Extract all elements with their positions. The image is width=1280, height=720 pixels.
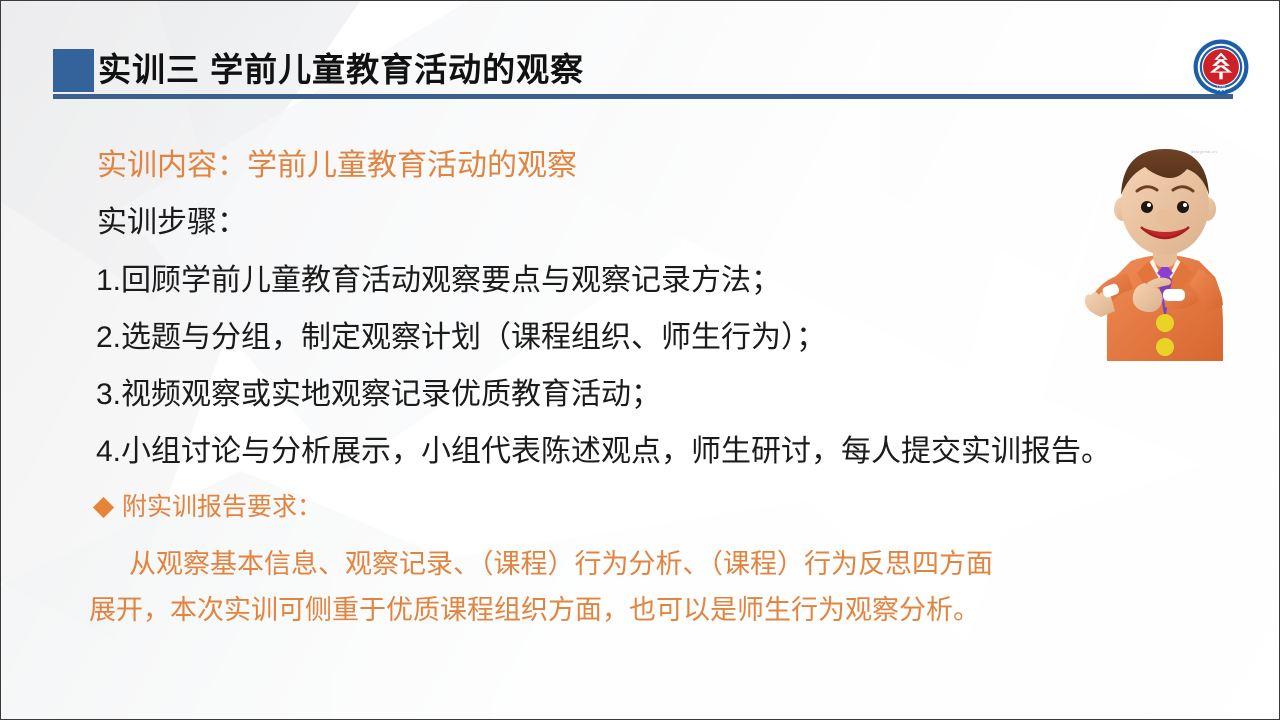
diamond-bullet-icon xyxy=(93,497,114,518)
report-requirement-heading: 附实训报告要求： xyxy=(96,493,322,522)
step-item-3: 3.视频观察或实地观察记录优质教育活动； xyxy=(96,378,661,413)
training-content-line: 实训内容：学前儿童教育活动的观察 xyxy=(97,149,577,184)
step-item-2: 2.选题与分组，制定观察计划（课程组织、师生行为）； xyxy=(96,321,826,356)
report-requirement-line-1: 从观察基本信息、观察记录、（课程）行为分析、（课程）行为反思四方面 xyxy=(129,549,993,580)
report-requirement-line-2: 展开，本次实训可侧重于优质课程组织方面，也可以是师生行为观察分析。 xyxy=(89,595,980,626)
training-steps-label: 实训步骤： xyxy=(97,206,247,241)
character-watermark: designhai.cn xyxy=(1191,149,1217,154)
report-requirement-heading-label: 附实训报告要求： xyxy=(122,493,322,522)
step-item-1: 1.回顾学前儿童教育活动观察要点与观察记录方法； xyxy=(96,264,781,299)
step-item-4: 4.小组讨论与分析展示，小组代表陈述观点，师生研讨，每人提交实训报告。 xyxy=(96,435,1111,470)
cartoon-presenter-character xyxy=(1079,133,1251,361)
presentation-slide: 实训三 学前儿童教育活动的观察 xyxy=(0,0,1280,720)
